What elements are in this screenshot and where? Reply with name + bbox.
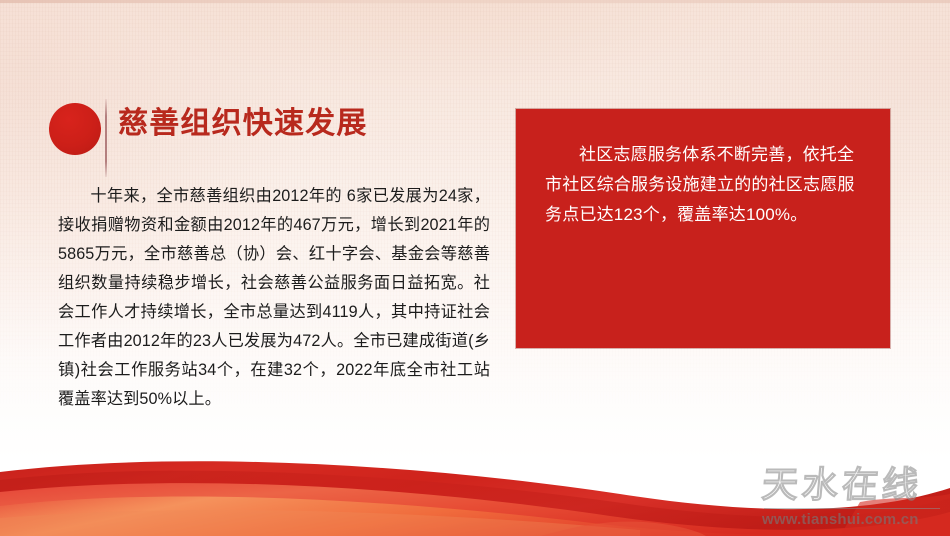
red-circle-icon <box>49 103 101 155</box>
callout-paragraph: 社区志愿服务体系不断完善，依托全市社区综合服务设施建立的的社区志愿服务点已达12… <box>545 140 865 230</box>
body-paragraph: 十年来，全市慈善组织由2012年的 6家已发展为24家，接收捐赠物资和金额由20… <box>58 182 490 414</box>
red-callout-panel: 社区志愿服务体系不断完善，依托全市社区综合服务设施建立的的社区志愿服务点已达12… <box>516 109 890 348</box>
heading-divider-rule <box>105 99 107 177</box>
watermark-url: www.tianshui.com.cn <box>762 511 946 528</box>
background-top-edge-line <box>0 0 950 3</box>
page-title: 慈善组织快速发展 <box>118 109 368 139</box>
watermark-brand-name: 天水在线 <box>760 466 947 504</box>
section-heading: 慈善组织快速发展 <box>49 102 469 162</box>
slide-canvas: 慈善组织快速发展 十年来，全市慈善组织由2012年的 6家已发展为24家，接收捐… <box>0 0 950 536</box>
site-watermark: 天水在线 www.tianshui.com.cn <box>762 466 946 532</box>
watermark-underline <box>764 508 940 509</box>
